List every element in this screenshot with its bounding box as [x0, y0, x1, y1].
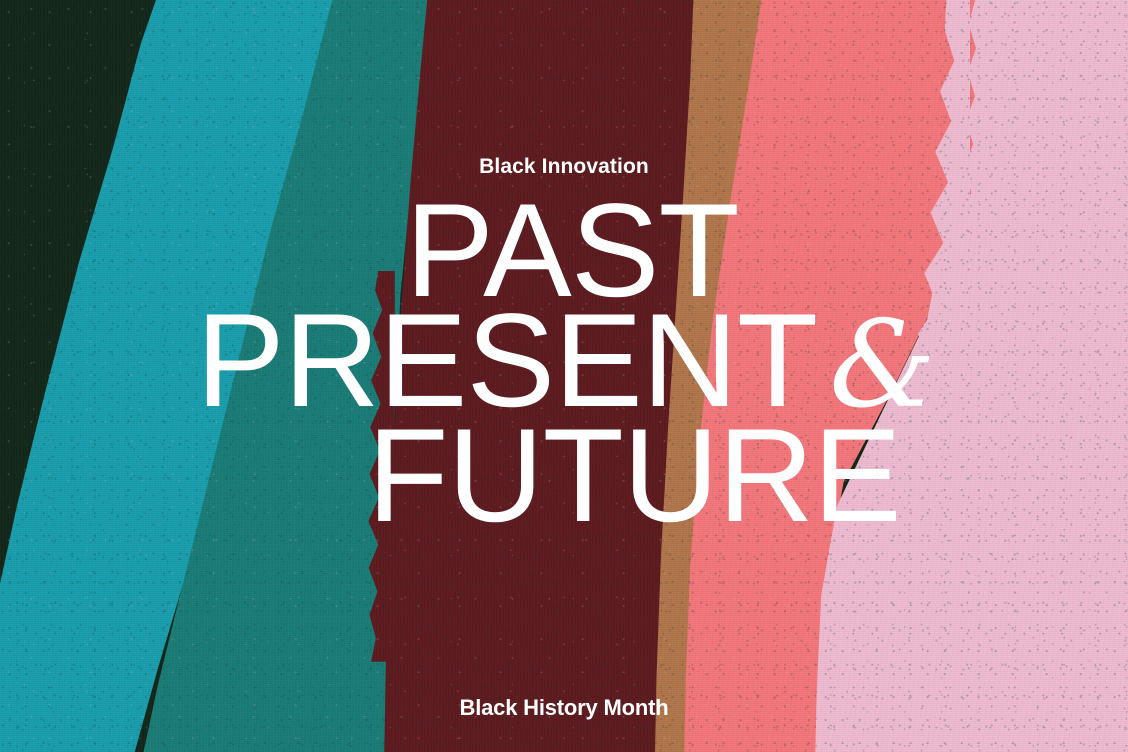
poster-content: Black Innovation PAST PRESENT& FUTURE Bl…: [0, 0, 1128, 752]
eyebrow-text: Black Innovation: [0, 155, 1128, 179]
footer-text: Black History Month: [0, 695, 1128, 721]
black-history-month-poster: Black Innovation PAST PRESENT& FUTURE Bl…: [0, 0, 1128, 752]
headline-word-future: FUTURE: [367, 402, 900, 550]
headline-line-future: FUTURE: [0, 421, 1128, 531]
headline: PAST PRESENT& FUTURE: [0, 196, 1128, 531]
